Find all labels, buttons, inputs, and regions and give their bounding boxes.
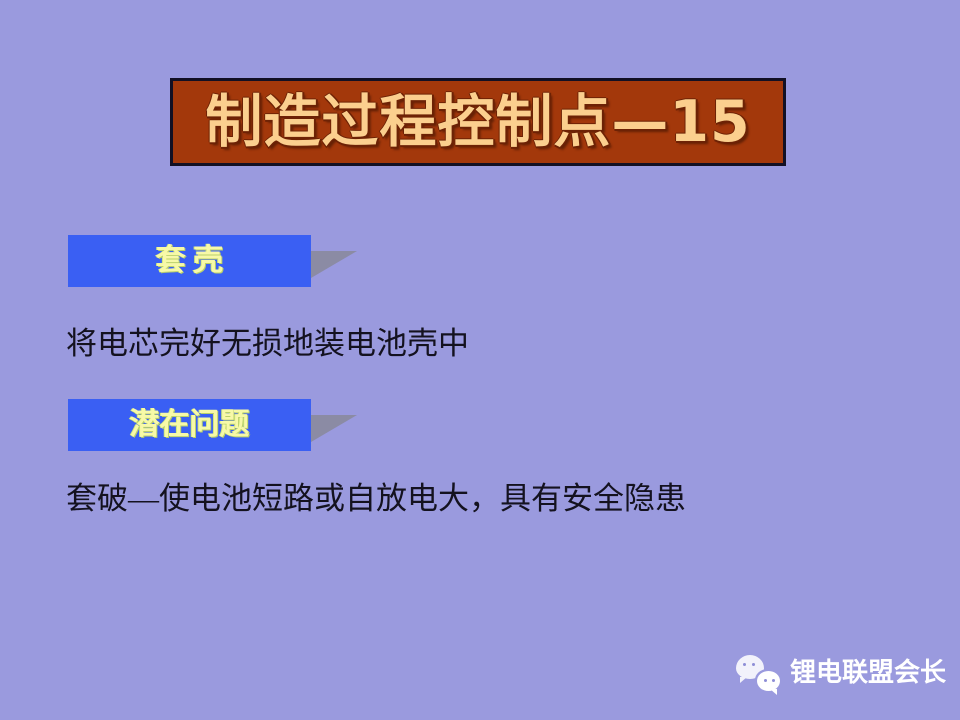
body-paragraph-1: 将电芯完好无损地装电池壳中 [66, 325, 469, 364]
callout-box-1: 套 壳 [68, 235, 311, 287]
callout-section-2: 潜在问题 [68, 399, 311, 451]
slide-title-banner: 制造过程控制点—15 [170, 78, 786, 166]
body-paragraph-2: 套破—使电池短路或自放电大，具有安全隐患 [66, 480, 686, 519]
watermark-label: 锂电联盟会长 [790, 660, 946, 686]
callout-shadow-wedge-1 [311, 251, 357, 278]
callout-box-2: 潜在问题 [68, 399, 311, 451]
slide-canvas: 制造过程控制点—15 套 壳 将电芯完好无损地装电池壳中 潜在问题 套破—使电池… [0, 0, 960, 720]
callout-shadow-wedge-2 [311, 415, 357, 442]
callout-section-1: 套 壳 [68, 235, 311, 287]
watermark: 锂电联盟会长 [736, 655, 946, 691]
wechat-icon [736, 655, 780, 691]
callout-label-1: 套 壳 [156, 246, 224, 276]
page-title: 制造过程控制点—15 [205, 94, 750, 151]
callout-label-2: 潜在问题 [130, 410, 250, 440]
